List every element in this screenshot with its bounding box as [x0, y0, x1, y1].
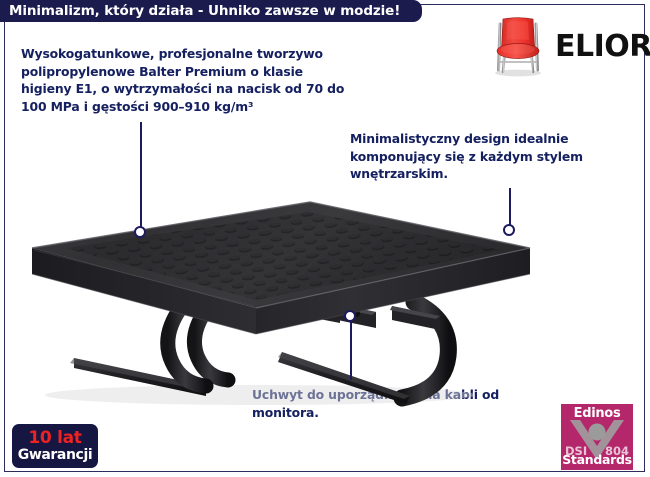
warranty-years: 10 lat [28, 430, 81, 448]
callout-dot-design [503, 224, 515, 236]
callout-dot-material [134, 226, 146, 238]
header-banner: Minimalizm, który działa - Uhniko zawsze… [0, 0, 422, 22]
leader-line-cable [350, 318, 352, 380]
product-infographic: Minimalizm, który działa - Uhniko zawsze… [0, 0, 650, 477]
callout-dot-cable [344, 310, 356, 322]
callout-text-design: Minimalistyczny design idealnie komponuj… [350, 130, 640, 183]
brand-name: ELIOR [555, 32, 650, 62]
product-image [10, 190, 610, 410]
warranty-label: Gwarancji [18, 448, 93, 463]
warranty-badge: 10 lat Gwarancji [12, 424, 98, 468]
brand-logo: ELIOR [487, 16, 637, 78]
leader-line-material [140, 122, 142, 234]
red-chair-icon [487, 16, 549, 78]
callout-text-material: Wysokogatunkowe, profesjonalne tworzywo … [21, 45, 351, 115]
edinos-certification-badge: Edinos DSI 804 Standards [561, 404, 633, 470]
banner-title: Minimalizm, który działa - Uhniko zawsze… [0, 3, 400, 19]
edinos-standards-label: Standards [561, 452, 633, 467]
